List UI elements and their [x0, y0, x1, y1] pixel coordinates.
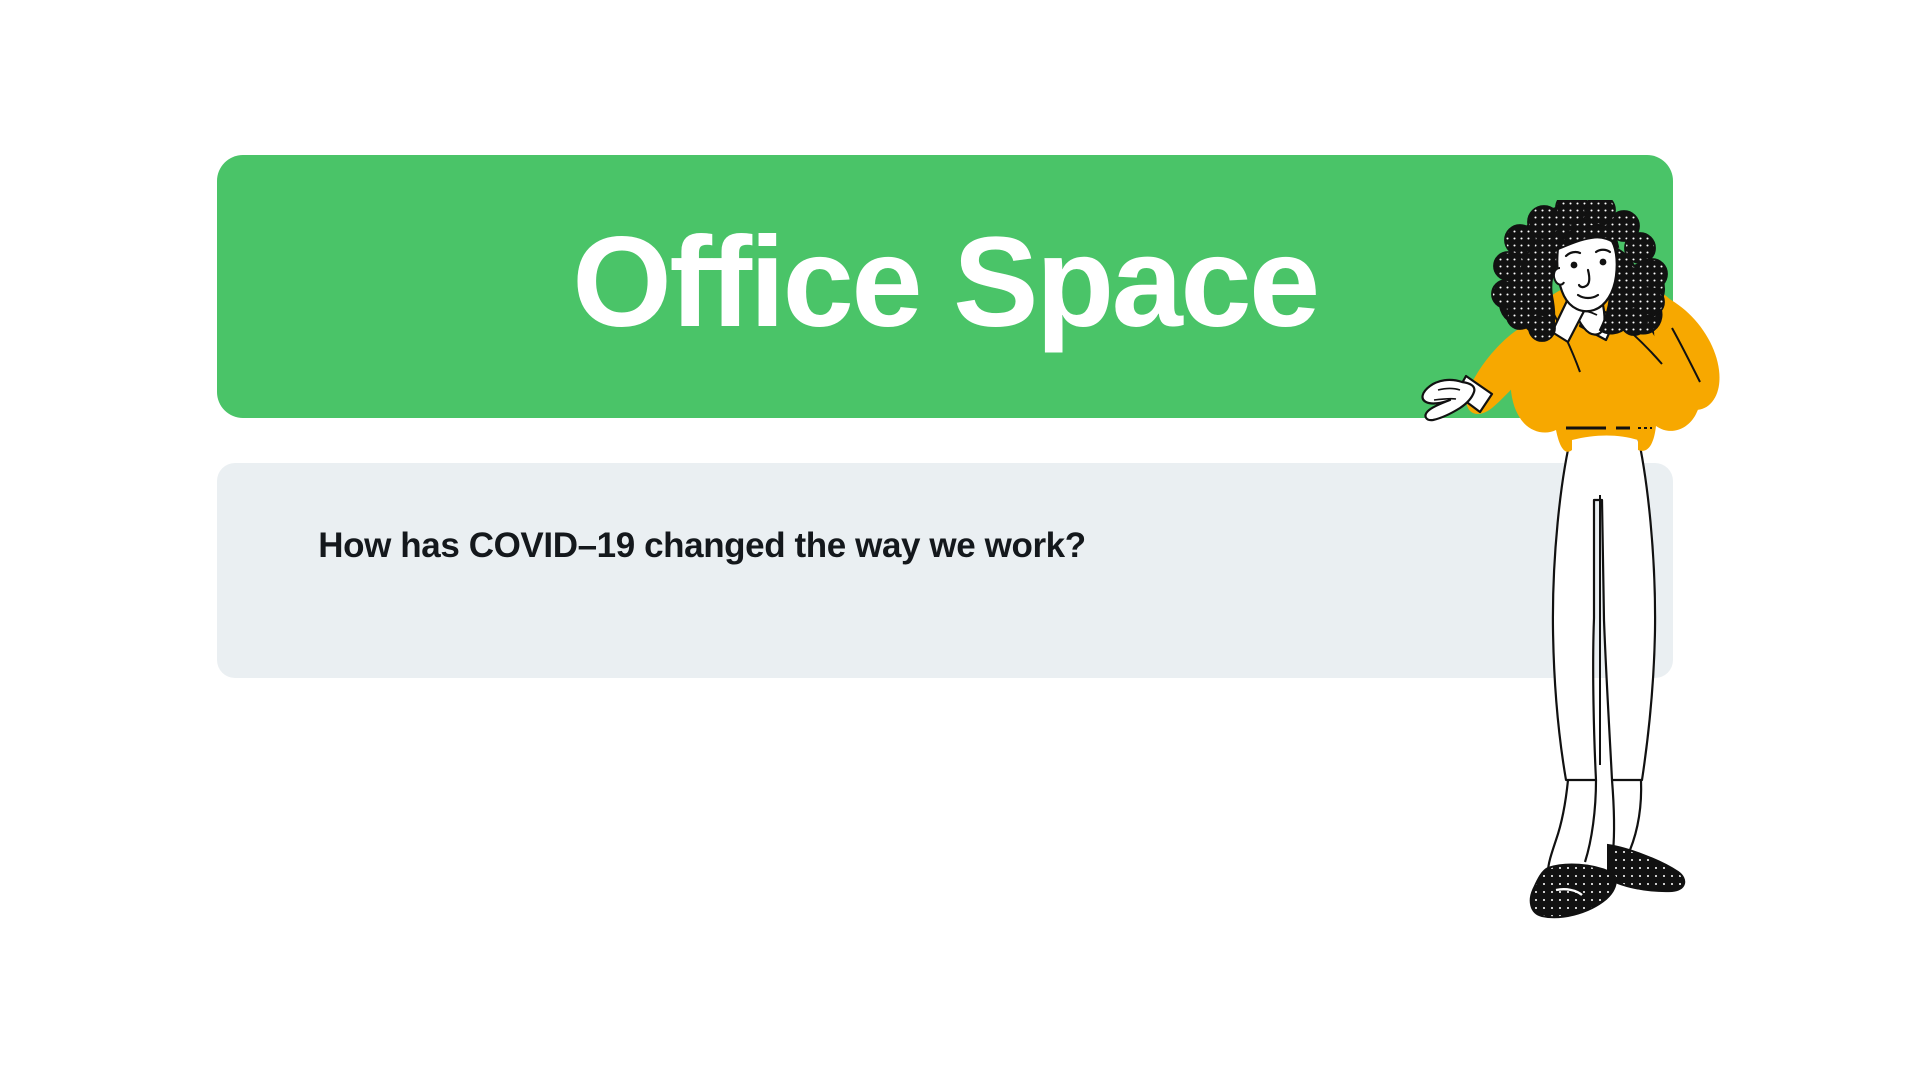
black-flat-shoes — [1531, 845, 1685, 917]
question-text: How has COVID–19 changed the way we work… — [0, 525, 1430, 567]
presenter-illustration — [1420, 200, 1760, 945]
slide-canvas: How has COVID–19 changed the way we work… — [0, 0, 1920, 1080]
illustration-group — [1423, 200, 1720, 917]
white-trousers — [1553, 428, 1655, 780]
